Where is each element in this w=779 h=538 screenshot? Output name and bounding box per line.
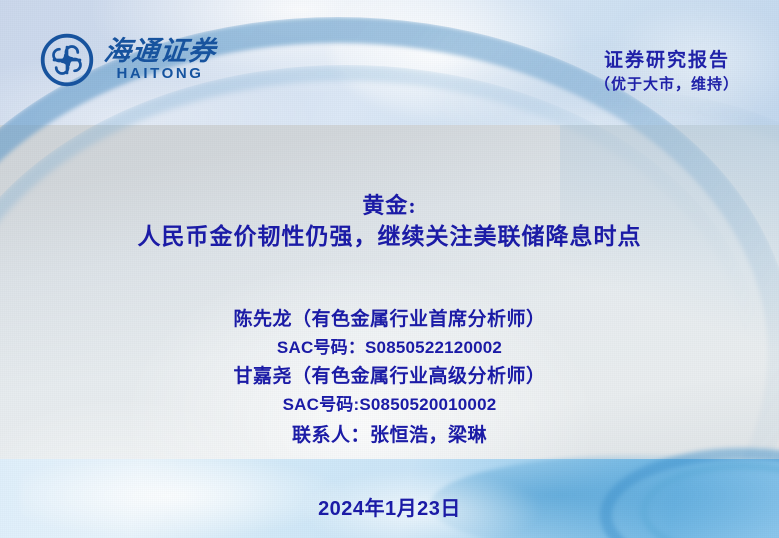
publication-date: 2024年1月23日 xyxy=(0,492,779,521)
title-line-2: 人民币金价韧性仍强，继续关注美联储降息时点 xyxy=(0,220,779,255)
contact-persons: 联系人：张恒浩，梁琳 xyxy=(0,421,779,451)
title-line-1: 黄金: xyxy=(0,192,779,220)
brand-name-en: HAITONG xyxy=(116,66,203,83)
slide-content: 海通证券 HAITONG 证券研究报告 （优于大市，维持） 黄金: 人民币金价韧… xyxy=(0,0,779,538)
author-name-primary: 陈先龙（有色金属行业首席分析师） xyxy=(0,305,779,334)
author-sac-primary: SAC号码：S0850522120002 xyxy=(0,334,779,361)
author-sac-secondary: SAC号码:S0850520010002 xyxy=(0,391,779,418)
report-cover-slide: 海通证券 HAITONG 证券研究报告 （优于大市，维持） 黄金: 人民币金价韧… xyxy=(0,0,779,538)
report-type-text: 证券研究报告 xyxy=(595,48,739,74)
report-label: 证券研究报告 （优于大市，维持） xyxy=(595,48,739,96)
brand-logo: 海通证券 HAITONG xyxy=(40,33,216,87)
haitong-emblem-icon xyxy=(40,33,94,87)
author-block: 陈先龙（有色金属行业首席分析师） SAC号码：S0850522120002 甘嘉… xyxy=(0,305,779,452)
brand-name-cn: 海通证券 xyxy=(103,37,218,65)
author-name-secondary: 甘嘉尧（有色金属行业高级分析师） xyxy=(0,362,779,391)
page-title: 黄金: 人民币金价韧性仍强，继续关注美联储降息时点 xyxy=(0,192,779,254)
brand-wordmark: 海通证券 HAITONG xyxy=(104,37,216,83)
report-rating-text: （优于大市，维持） xyxy=(595,74,739,97)
